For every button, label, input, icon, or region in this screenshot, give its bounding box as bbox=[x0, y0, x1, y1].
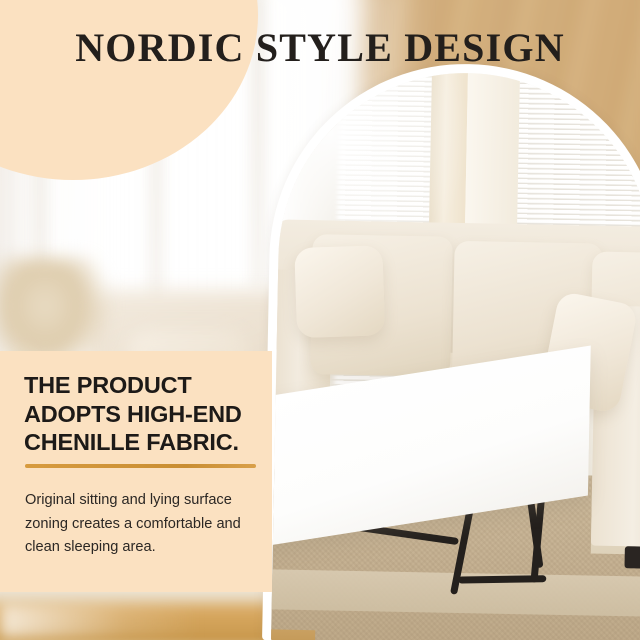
background-floor-sheen bbox=[0, 604, 200, 638]
photo-wood-floor bbox=[271, 629, 315, 640]
feature-text-panel: THE PRODUCT ADOPTS HIGH-END CHENILLE FAB… bbox=[0, 351, 272, 592]
feature-body-text: Original sitting and lying surface zonin… bbox=[25, 489, 263, 560]
feature-heading: THE PRODUCT ADOPTS HIGH-END CHENILLE FAB… bbox=[24, 371, 260, 457]
product-photo bbox=[271, 70, 640, 640]
photo-sofa-foot bbox=[624, 546, 640, 568]
arch-photo-panel bbox=[262, 60, 640, 640]
page-title: NORDIC STYLE DESIGN bbox=[0, 24, 640, 71]
heading-divider bbox=[25, 464, 256, 468]
photo-throw-pillow bbox=[294, 245, 385, 338]
product-banner: NORDIC STYLE DESIGN THE PRODUCT ADOPTS H… bbox=[0, 0, 640, 640]
